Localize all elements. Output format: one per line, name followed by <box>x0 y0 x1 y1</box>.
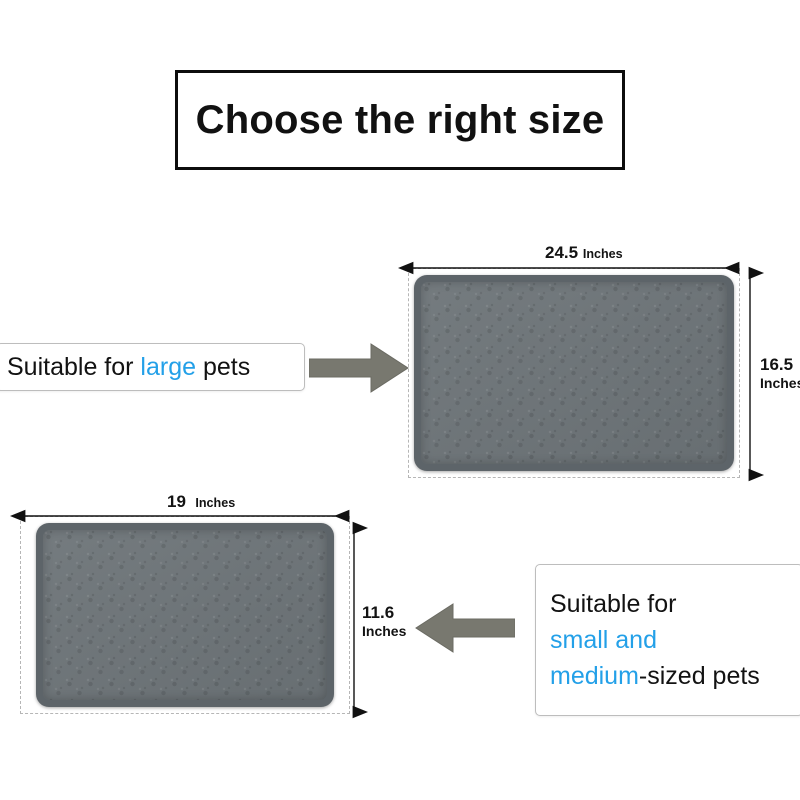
callout-text-segment: -sized pets <box>639 662 760 690</box>
small-medium-mat-width-label: 19 Inches <box>167 492 235 512</box>
small-medium-pets-callout-line: Suitable for <box>550 586 788 622</box>
large-mat-height-label: 16.5 Inches <box>760 355 800 391</box>
small-medium-mat-height-value: 11.6 <box>362 603 406 623</box>
large-mat-height-unit: Inches <box>760 375 800 391</box>
small-medium-mat-height-unit: Inches <box>362 623 406 639</box>
large-pets-arrow-right-icon <box>309 340 409 396</box>
title-box: Choose the right size <box>175 70 625 170</box>
small-medium-pets-callout-line: medium-sized pets <box>550 658 788 694</box>
callout-text-segment: Suitable for <box>7 353 140 381</box>
small-medium-mat <box>36 523 334 707</box>
small-medium-mat-height-label: 11.6 Inches <box>362 603 406 639</box>
large-mat-width-value: 24.5 <box>545 243 578 262</box>
callout-highlight-segment: small and <box>550 626 657 654</box>
callout-text-segment: Suitable for <box>550 590 676 618</box>
callout-highlight-segment: medium <box>550 662 639 690</box>
small-medium-mat-height-dimension <box>348 525 360 715</box>
infographic-canvas: Choose the right size 24.5 Inches <box>0 0 800 800</box>
page-title: Choose the right size <box>196 100 605 140</box>
large-pets-callout-line: Suitable for large pets <box>7 349 294 385</box>
large-mat-height-dimension <box>744 270 756 478</box>
callout-text-segment: pets <box>196 353 250 381</box>
small-medium-mat-width-unit: Inches <box>195 496 235 510</box>
large-mat-group <box>408 268 740 478</box>
small-medium-mat-group <box>20 516 350 714</box>
small-medium-pets-arrow-left-icon <box>415 600 515 656</box>
small-medium-pets-callout-line: small and <box>550 622 788 658</box>
large-mat-height-value: 16.5 <box>760 355 800 375</box>
large-mat-width-label: 24.5 Inches <box>545 243 623 263</box>
small-medium-pets-callout: Suitable for small and medium-sized pets <box>535 564 800 716</box>
large-mat-width-dimension <box>410 262 740 274</box>
large-mat-surface-texture <box>421 282 727 464</box>
callout-highlight-segment: large <box>140 353 196 381</box>
small-medium-mat-surface-texture <box>43 530 327 700</box>
large-pets-callout: Suitable for large pets <box>0 343 305 391</box>
large-mat-width-unit: Inches <box>583 247 623 261</box>
small-medium-mat-width-value: 19 <box>167 492 186 511</box>
large-mat <box>414 275 734 471</box>
